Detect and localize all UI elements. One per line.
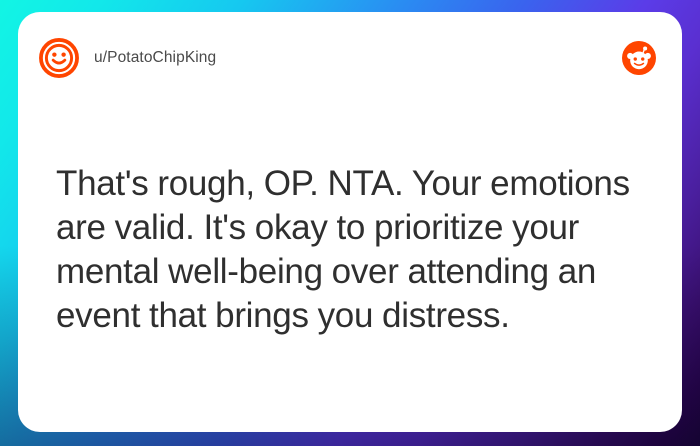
reddit-comment-card: u/PotatoChipKing That's rough, OP. NTA. … <box>18 12 682 432</box>
screenshot-stage: u/PotatoChipKing That's rough, OP. NTA. … <box>0 0 700 446</box>
username-label[interactable]: u/PotatoChipKing <box>94 49 216 67</box>
smiley-face-avatar-icon[interactable] <box>38 37 80 79</box>
comment-text: That's rough, OP. NTA. Your emotions are… <box>56 162 642 338</box>
comment-header: u/PotatoChipKing <box>18 12 682 104</box>
reddit-snoo-icon[interactable] <box>622 41 656 75</box>
